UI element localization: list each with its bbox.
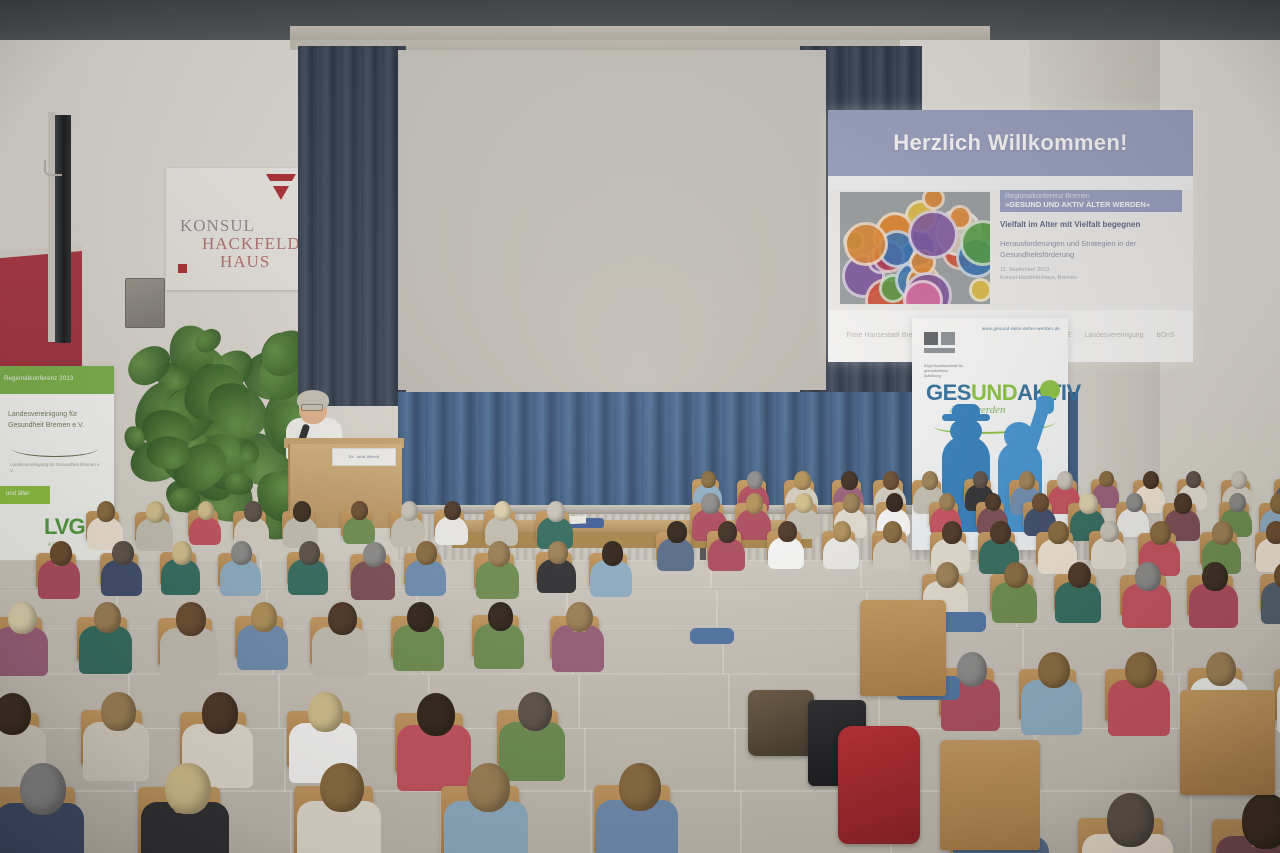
person-head bbox=[488, 602, 514, 631]
person-head bbox=[701, 493, 719, 514]
person-head bbox=[1242, 793, 1280, 848]
person-head bbox=[1079, 493, 1097, 514]
person-torso bbox=[1261, 582, 1280, 623]
audience-person bbox=[164, 540, 199, 588]
person-head bbox=[942, 521, 962, 544]
person-head bbox=[8, 602, 36, 634]
person-head bbox=[112, 541, 133, 565]
bag-red-backpack bbox=[838, 726, 920, 844]
person-head bbox=[1126, 493, 1143, 512]
empty-chair bbox=[860, 600, 946, 696]
person-head bbox=[833, 521, 851, 542]
person-torso bbox=[101, 560, 142, 597]
audience-person bbox=[345, 500, 374, 539]
person-head bbox=[172, 541, 192, 564]
audience-person bbox=[1259, 520, 1280, 566]
person-head bbox=[1125, 652, 1157, 688]
person-head bbox=[746, 493, 764, 513]
person-head bbox=[20, 763, 66, 815]
person-head bbox=[308, 692, 343, 732]
person-head bbox=[936, 562, 959, 588]
person-head bbox=[794, 471, 811, 490]
person-head bbox=[416, 541, 437, 565]
audience-person bbox=[104, 540, 141, 589]
audience-person bbox=[89, 500, 121, 543]
person-head bbox=[251, 602, 277, 632]
person-head bbox=[1100, 521, 1119, 542]
audience-person bbox=[556, 600, 603, 663]
audience-person bbox=[1058, 560, 1099, 615]
person-head bbox=[407, 602, 434, 632]
audience-person bbox=[147, 760, 226, 853]
audience bbox=[0, 0, 1280, 853]
person-head bbox=[94, 602, 122, 633]
audience-person bbox=[477, 600, 522, 660]
person-head bbox=[1048, 521, 1068, 544]
seat-cushion bbox=[690, 628, 734, 644]
audience-person bbox=[540, 500, 572, 543]
person-head bbox=[1212, 521, 1232, 544]
person-head bbox=[244, 501, 262, 522]
audience-person bbox=[540, 540, 575, 587]
person-head bbox=[1032, 493, 1049, 512]
audience-person bbox=[2, 760, 81, 853]
person-torso bbox=[1055, 582, 1101, 623]
person-torso bbox=[657, 538, 694, 571]
person-head bbox=[1186, 471, 1201, 488]
audience-person bbox=[1112, 650, 1168, 725]
person-head bbox=[518, 692, 552, 731]
person-head bbox=[1038, 652, 1070, 688]
person-torso bbox=[992, 582, 1038, 623]
audience-person bbox=[826, 520, 858, 563]
audience-person bbox=[875, 520, 908, 564]
person-torso bbox=[1108, 680, 1170, 736]
audience-person bbox=[396, 600, 442, 662]
person-head bbox=[299, 541, 320, 564]
person-torso bbox=[220, 560, 261, 597]
person-head bbox=[444, 501, 461, 520]
audience-person bbox=[995, 560, 1036, 615]
person-head bbox=[1135, 562, 1161, 591]
person-head bbox=[973, 471, 988, 488]
person-head bbox=[165, 763, 210, 814]
audience-person bbox=[222, 540, 259, 589]
audience-person bbox=[1025, 650, 1080, 724]
person-head bbox=[202, 692, 239, 734]
person-head bbox=[1266, 521, 1280, 543]
person-head bbox=[293, 501, 311, 521]
audience-person bbox=[191, 500, 220, 539]
person-head bbox=[488, 541, 510, 566]
audience-person bbox=[1125, 560, 1169, 620]
person-head bbox=[1019, 471, 1036, 490]
person-torso bbox=[38, 560, 80, 598]
audience-person bbox=[1192, 560, 1236, 620]
audience-person bbox=[291, 540, 327, 588]
person-head bbox=[602, 541, 623, 565]
person-head bbox=[922, 471, 938, 490]
person-torso bbox=[552, 625, 604, 672]
person-head bbox=[747, 471, 763, 489]
person-head bbox=[50, 541, 72, 566]
person-head bbox=[1206, 652, 1236, 686]
person-head bbox=[886, 493, 903, 512]
audience-person bbox=[479, 540, 518, 592]
person-head bbox=[718, 521, 737, 543]
audience-person bbox=[316, 600, 366, 668]
person-head bbox=[401, 501, 419, 521]
person-head bbox=[990, 521, 1010, 544]
person-head bbox=[1099, 471, 1113, 487]
person-head bbox=[985, 493, 1001, 511]
audience-person bbox=[1093, 520, 1125, 563]
person-head bbox=[547, 501, 565, 522]
audience-person bbox=[487, 500, 517, 540]
audience-person bbox=[771, 520, 803, 563]
person-head bbox=[566, 602, 593, 633]
person-head bbox=[97, 501, 116, 522]
person-head bbox=[146, 501, 165, 523]
empty-chair bbox=[1180, 690, 1275, 795]
person-head bbox=[1107, 793, 1154, 846]
audience-person bbox=[438, 500, 467, 539]
person-head bbox=[1270, 493, 1280, 514]
person-head bbox=[231, 541, 252, 565]
person-head bbox=[351, 501, 368, 520]
audience-person bbox=[408, 540, 444, 589]
audience-person bbox=[711, 520, 744, 564]
person-head bbox=[1143, 471, 1159, 489]
conference-photo: KONSUL HACKFELD HAUS Herzlich Willkommen… bbox=[0, 0, 1280, 853]
person-head bbox=[1174, 493, 1192, 514]
audience-person bbox=[83, 600, 131, 665]
audience-person bbox=[593, 540, 630, 590]
audience-person bbox=[602, 760, 675, 853]
person-head bbox=[467, 763, 510, 812]
person-head bbox=[328, 602, 357, 635]
audience-person bbox=[303, 760, 379, 853]
person-head bbox=[619, 763, 661, 811]
person-head bbox=[667, 521, 686, 543]
person-head bbox=[841, 471, 857, 489]
audience-person bbox=[240, 600, 286, 662]
person-head bbox=[843, 493, 860, 513]
person-head bbox=[1057, 471, 1073, 490]
empty-chair bbox=[940, 740, 1040, 850]
audience-person bbox=[88, 690, 147, 770]
person-head bbox=[548, 541, 568, 564]
audience-person bbox=[164, 600, 216, 669]
person-head bbox=[101, 692, 135, 731]
person-head bbox=[320, 763, 364, 813]
person-head bbox=[417, 693, 455, 736]
person-head bbox=[883, 471, 900, 490]
person-head bbox=[363, 542, 386, 568]
person-head bbox=[939, 493, 955, 511]
bag-brown bbox=[748, 690, 814, 756]
person-head bbox=[1229, 493, 1246, 512]
person-head bbox=[701, 471, 716, 488]
audience-person bbox=[504, 690, 563, 769]
audience-person bbox=[0, 600, 46, 666]
person-head bbox=[778, 521, 797, 542]
audience-person bbox=[450, 760, 525, 853]
audience-person bbox=[394, 500, 425, 541]
person-torso bbox=[768, 537, 804, 569]
person-head bbox=[957, 652, 988, 687]
person-head bbox=[1068, 562, 1092, 589]
audience-person bbox=[1088, 790, 1170, 853]
person-head bbox=[795, 493, 813, 513]
person-head bbox=[1004, 562, 1028, 589]
audience-person bbox=[1222, 790, 1280, 853]
person-head bbox=[883, 521, 902, 543]
audience-person bbox=[1265, 560, 1280, 616]
audience-person bbox=[237, 500, 269, 543]
person-head bbox=[1150, 521, 1171, 545]
person-head bbox=[1202, 562, 1228, 591]
person-head bbox=[176, 602, 206, 636]
person-head bbox=[198, 501, 215, 520]
audience-person bbox=[354, 540, 393, 593]
person-head bbox=[494, 501, 511, 520]
audience-person bbox=[139, 500, 172, 545]
audience-person bbox=[41, 540, 79, 591]
audience-person bbox=[286, 500, 317, 542]
audience-person bbox=[660, 520, 693, 565]
